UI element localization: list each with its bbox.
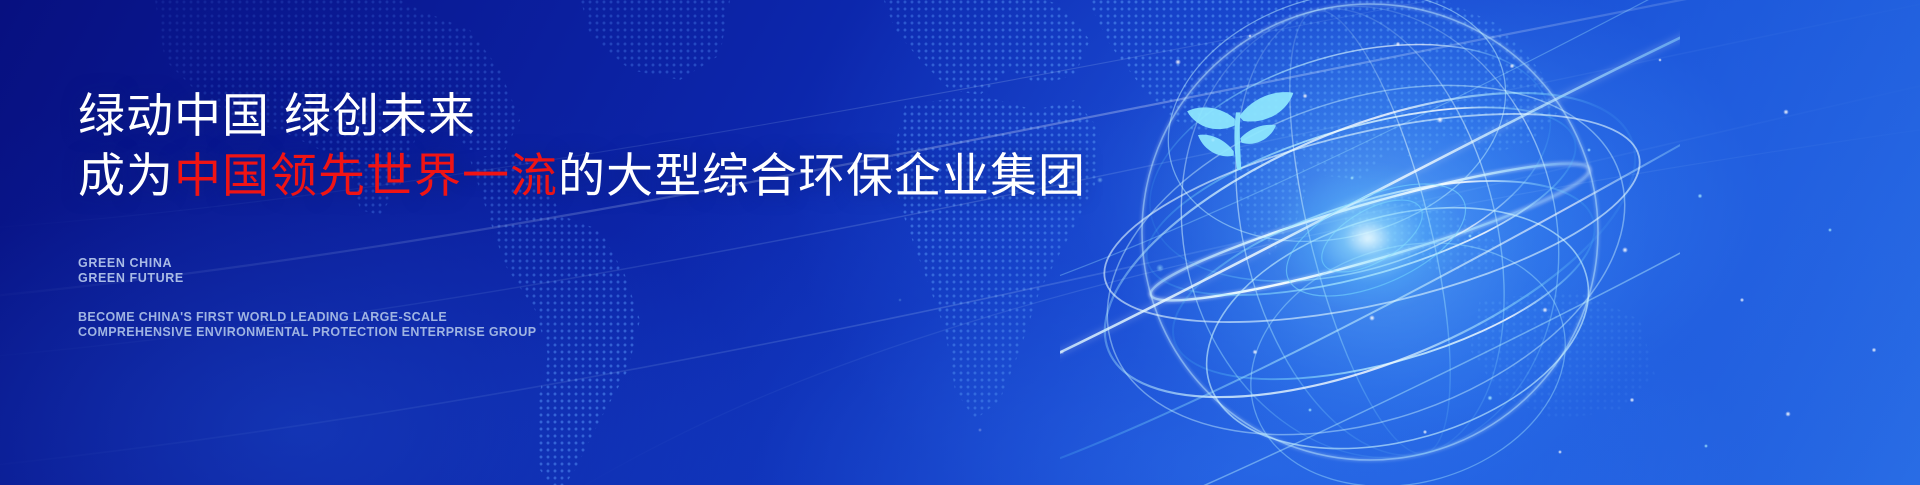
- headline-line-1: 绿动中国 绿创未来: [78, 86, 1086, 146]
- english-slogan-line-1: GREEN CHINA: [78, 256, 184, 271]
- english-slogan-line-2: GREEN FUTURE: [78, 271, 184, 286]
- headline-line-2-prefix: 成为: [78, 149, 174, 202]
- banner-root: 绿动中国 绿创未来 成为中国领先世界一流的大型综合环保企业集团 GREEN CH…: [0, 0, 1920, 485]
- english-description: BECOME CHINA'S FIRST WORLD LEADING LARGE…: [78, 310, 536, 340]
- headline-line-2-highlight: 中国领先世界一流: [174, 149, 558, 202]
- english-description-line-2: COMPREHENSIVE ENVIRONMENTAL PROTECTION E…: [78, 325, 536, 340]
- headline-line-2-suffix: 的大型综合环保企业集团: [558, 149, 1086, 202]
- headline-line-2: 成为中国领先世界一流的大型综合环保企业集团: [78, 146, 1086, 206]
- english-description-line-1: BECOME CHINA'S FIRST WORLD LEADING LARGE…: [78, 310, 536, 325]
- copy-block: 绿动中国 绿创未来 成为中国领先世界一流的大型综合环保企业集团 GREEN CH…: [78, 0, 1038, 485]
- page-title: 绿动中国 绿创未来 成为中国领先世界一流的大型综合环保企业集团: [78, 86, 1086, 206]
- english-slogan: GREEN CHINA GREEN FUTURE: [78, 256, 184, 286]
